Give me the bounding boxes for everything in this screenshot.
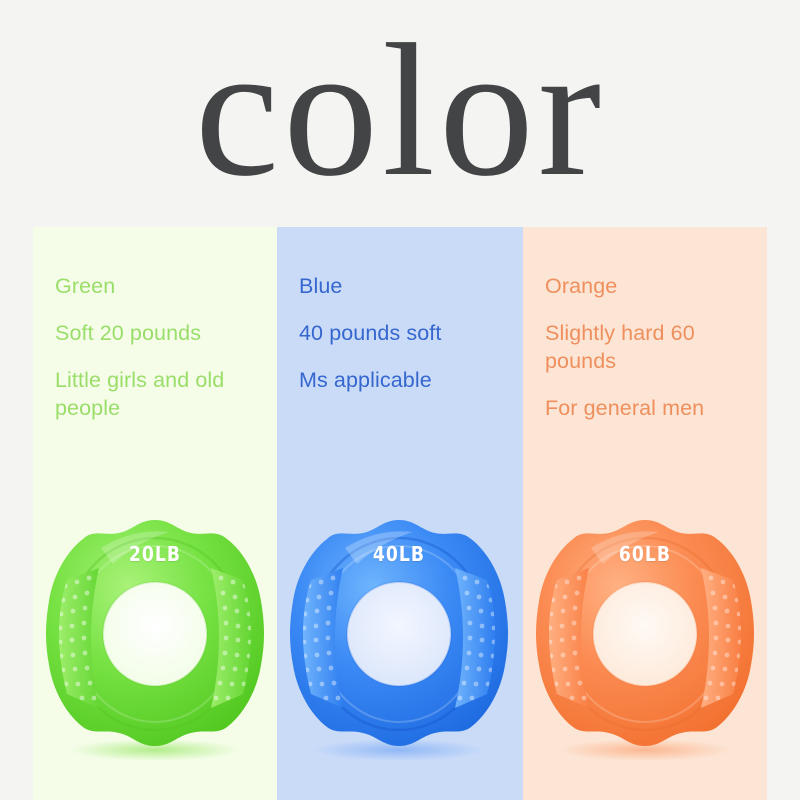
variant-color-name: Blue: [299, 272, 504, 300]
variant-resistance: 40 pounds soft: [299, 319, 504, 347]
variant-color-name: Orange: [545, 272, 750, 300]
grip-ring-green-svg: [37, 512, 273, 762]
color-variant-orange[interactable]: Orange Slightly hard 60 pounds For gener…: [523, 227, 767, 800]
variant-color-name: Green: [55, 272, 260, 300]
color-variant-green[interactable]: Green Soft 20 pounds Little girls and ol…: [33, 227, 277, 800]
grip-ring-orange-svg: [527, 512, 763, 762]
page-title: color: [0, 16, 800, 206]
variant-description-orange: Orange Slightly hard 60 pounds For gener…: [545, 272, 750, 422]
variant-audience: Little girls and old people: [55, 366, 260, 422]
variant-resistance: Soft 20 pounds: [55, 319, 260, 347]
color-variant-panels: Green Soft 20 pounds Little girls and ol…: [0, 227, 800, 800]
variant-audience: For general men: [545, 394, 750, 422]
variant-resistance: Slightly hard 60 pounds: [545, 319, 750, 375]
grip-ring-blue-svg: [281, 512, 517, 762]
variant-audience: Ms applicable: [299, 366, 504, 394]
product-image-blue: 40LB: [281, 512, 517, 762]
product-image-orange: 60LB: [527, 512, 763, 762]
color-variant-blue[interactable]: Blue 40 pounds soft Ms applicable: [277, 227, 523, 800]
variant-description-green: Green Soft 20 pounds Little girls and ol…: [55, 272, 260, 422]
product-color-infographic: color Green Soft 20 pounds Little girls …: [0, 0, 800, 800]
variant-description-blue: Blue 40 pounds soft Ms applicable: [299, 272, 504, 394]
product-image-green: 20LB: [37, 512, 273, 762]
